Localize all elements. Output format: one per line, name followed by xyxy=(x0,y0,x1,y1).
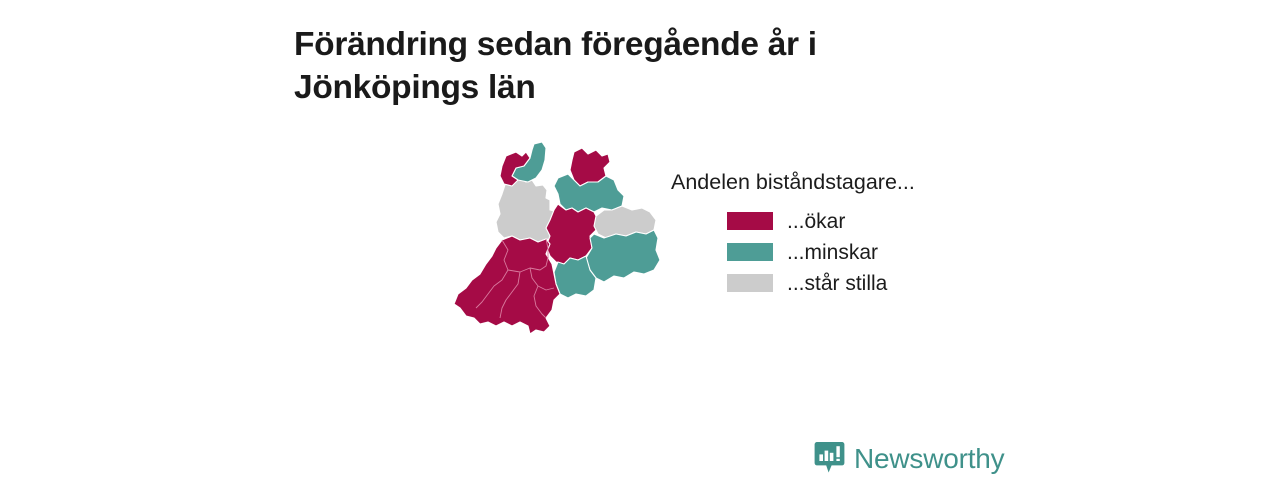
page-title: Förändring sedan föregående år i Jönköpi… xyxy=(294,24,914,110)
legend-item-minskar[interactable]: ...minskar xyxy=(671,237,1001,268)
legend-item-label: ...står stilla xyxy=(787,273,887,294)
newsworthy-bar-chart-badge-icon xyxy=(814,441,845,476)
map-area-southwest-cluster[interactable] xyxy=(454,236,560,334)
legend-item-okar[interactable]: ...ökar xyxy=(671,206,1001,237)
map-area-vetlanda[interactable] xyxy=(586,230,660,282)
legend-item-label: ...minskar xyxy=(787,242,878,263)
map-svg xyxy=(446,138,672,350)
color-swatch-icon xyxy=(727,274,773,292)
color-swatch-icon xyxy=(727,212,773,230)
legend-item-star-stilla[interactable]: ...står stilla xyxy=(671,268,1001,299)
legend-item-label: ...ökar xyxy=(787,211,845,232)
brand-name: Newsworthy xyxy=(854,445,1004,473)
legend: Andelen biståndstagare... ...ökar ...min… xyxy=(671,170,1001,299)
color-swatch-icon xyxy=(727,243,773,261)
chart-canvas: Förändring sedan föregående år i Jönköpi… xyxy=(0,0,1280,480)
newsworthy-logo[interactable]: Newsworthy xyxy=(814,441,1004,476)
legend-items: ...ökar ...minskar ...står stilla xyxy=(671,206,1001,299)
legend-title: Andelen biståndstagare... xyxy=(671,170,1001,196)
choropleth-map xyxy=(446,138,672,350)
